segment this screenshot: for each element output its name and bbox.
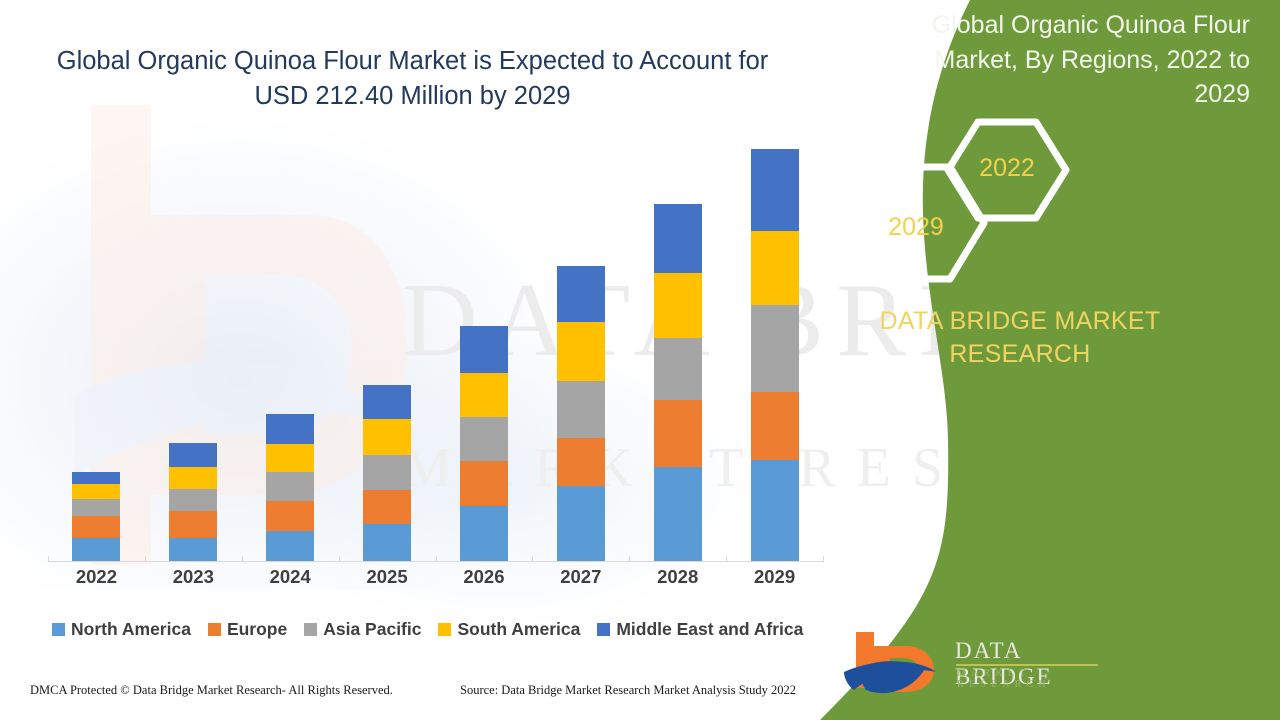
x-axis-tick	[629, 556, 630, 562]
chart-legend: North AmericaEuropeAsia PacificSouth Ame…	[52, 615, 842, 643]
infographic-canvas: DATA BRIDGE MARKET RESEARCH Global Organ…	[0, 0, 1280, 720]
bar-segment-south-america	[654, 273, 702, 338]
bar-segment-middle-east-and-africa	[266, 414, 314, 444]
legend-label: Europe	[227, 619, 287, 640]
bar-2029	[751, 149, 799, 561]
bar-segment-south-america	[266, 444, 314, 473]
bar-segment-south-america	[363, 419, 411, 454]
legend-item-south-america[interactable]: South America	[438, 619, 580, 640]
bar-segment-south-america	[751, 231, 799, 305]
bar-segment-middle-east-and-africa	[363, 385, 411, 419]
hexagons-icon	[830, 118, 1070, 293]
x-axis-tick	[48, 556, 49, 562]
copyright-text: DMCA Protected © Data Bridge Market Rese…	[30, 683, 393, 698]
legend-item-europe[interactable]: Europe	[208, 619, 287, 640]
bar-segment-south-america	[72, 484, 120, 500]
bar-segment-asia-pacific	[460, 417, 508, 461]
legend-label: South America	[457, 619, 580, 640]
x-axis-label-2026: 2026	[444, 566, 524, 588]
brand-name: DATA BRIDGE MARKET RESEARCH	[820, 305, 1220, 370]
bar-segment-south-america	[557, 322, 605, 381]
stacked-bar-chart	[48, 150, 823, 562]
bar-segment-middle-east-and-africa	[460, 326, 508, 373]
bar-segment-europe	[266, 501, 314, 531]
x-axis-tick	[532, 556, 533, 562]
hexagon-group: 2029 2022	[830, 118, 1070, 293]
bar-segment-europe	[654, 400, 702, 466]
bar-2023	[169, 443, 217, 561]
x-axis-label-2024: 2024	[250, 566, 330, 588]
legend-label: North America	[71, 619, 191, 640]
logo-subtitle: MARKET RESEARCH	[957, 668, 1100, 690]
x-axis-tick	[145, 556, 146, 562]
bar-2022	[72, 472, 120, 561]
bar-segment-asia-pacific	[169, 489, 217, 511]
x-axis-tick	[726, 556, 727, 562]
plot-area	[48, 150, 823, 562]
source-text: Source: Data Bridge Market Research Mark…	[460, 683, 796, 698]
legend-swatch-icon	[208, 623, 221, 636]
bar-segment-asia-pacific	[751, 305, 799, 391]
page-title: Global Organic Quinoa Flour Market is Ex…	[40, 44, 785, 114]
bar-segment-south-america	[460, 373, 508, 417]
legend-swatch-icon	[597, 623, 610, 636]
x-axis-label-2022: 2022	[56, 566, 136, 588]
green-panel: Global Organic Quinoa Flour Market, By R…	[820, 0, 1280, 720]
legend-label: Asia Pacific	[323, 619, 421, 640]
bar-segment-north-america	[363, 524, 411, 561]
bar-segment-south-america	[169, 467, 217, 489]
bar-2026	[460, 326, 508, 561]
bar-segment-north-america	[72, 538, 120, 561]
bar-2024	[266, 414, 314, 561]
bar-segment-middle-east-and-africa	[169, 443, 217, 467]
bar-segment-europe	[72, 516, 120, 538]
bar-segment-middle-east-and-africa	[654, 204, 702, 273]
bar-segment-asia-pacific	[72, 499, 120, 516]
x-axis-label-2028: 2028	[638, 566, 718, 588]
bar-2025	[363, 385, 411, 561]
hexagon-label-2022: 2022	[948, 154, 1066, 183]
bar-segment-middle-east-and-africa	[751, 149, 799, 231]
x-axis-tick	[339, 556, 340, 562]
bar-segment-north-america	[654, 467, 702, 561]
bar-segment-middle-east-and-africa	[557, 266, 605, 321]
legend-item-middle-east-and-africa[interactable]: Middle East and Africa	[597, 619, 803, 640]
green-panel-title: Global Organic Quinoa Flour Market, By R…	[930, 8, 1250, 112]
bar-2028	[654, 204, 702, 561]
bar-segment-europe	[460, 461, 508, 505]
x-axis-labels: 20222023202420252026202720282029	[48, 566, 823, 596]
bar-segment-europe	[363, 490, 411, 524]
bar-segment-europe	[751, 392, 799, 461]
bar-segment-asia-pacific	[363, 455, 411, 490]
bar-segment-europe	[557, 438, 605, 486]
x-axis-tick	[436, 556, 437, 562]
bar-segment-north-america	[557, 486, 605, 561]
legend-swatch-icon	[438, 623, 451, 636]
bar-segment-north-america	[751, 460, 799, 561]
bar-segment-north-america	[169, 538, 217, 561]
x-axis-tick	[242, 556, 243, 562]
legend-item-north-america[interactable]: North America	[52, 619, 191, 640]
legend-item-asia-pacific[interactable]: Asia Pacific	[304, 619, 421, 640]
legend-label: Middle East and Africa	[616, 619, 803, 640]
x-axis-label-2023: 2023	[153, 566, 233, 588]
bar-segment-north-america	[460, 506, 508, 561]
x-axis-label-2029: 2029	[735, 566, 815, 588]
bar-segment-middle-east-and-africa	[72, 472, 120, 483]
x-axis-label-2027: 2027	[541, 566, 621, 588]
legend-swatch-icon	[304, 623, 317, 636]
x-axis-label-2025: 2025	[347, 566, 427, 588]
bar-segment-asia-pacific	[557, 381, 605, 439]
hexagon-label-2029: 2029	[856, 213, 976, 242]
bar-segment-north-america	[266, 531, 314, 561]
bar-2027	[557, 266, 605, 561]
bar-segment-asia-pacific	[654, 338, 702, 400]
legend-swatch-icon	[52, 623, 65, 636]
data-bridge-logo: DATA BRIDGE MARKET RESEARCH	[840, 620, 1100, 700]
logo-divider	[956, 664, 1098, 666]
bar-segment-europe	[169, 511, 217, 538]
bar-segment-asia-pacific	[266, 472, 314, 501]
